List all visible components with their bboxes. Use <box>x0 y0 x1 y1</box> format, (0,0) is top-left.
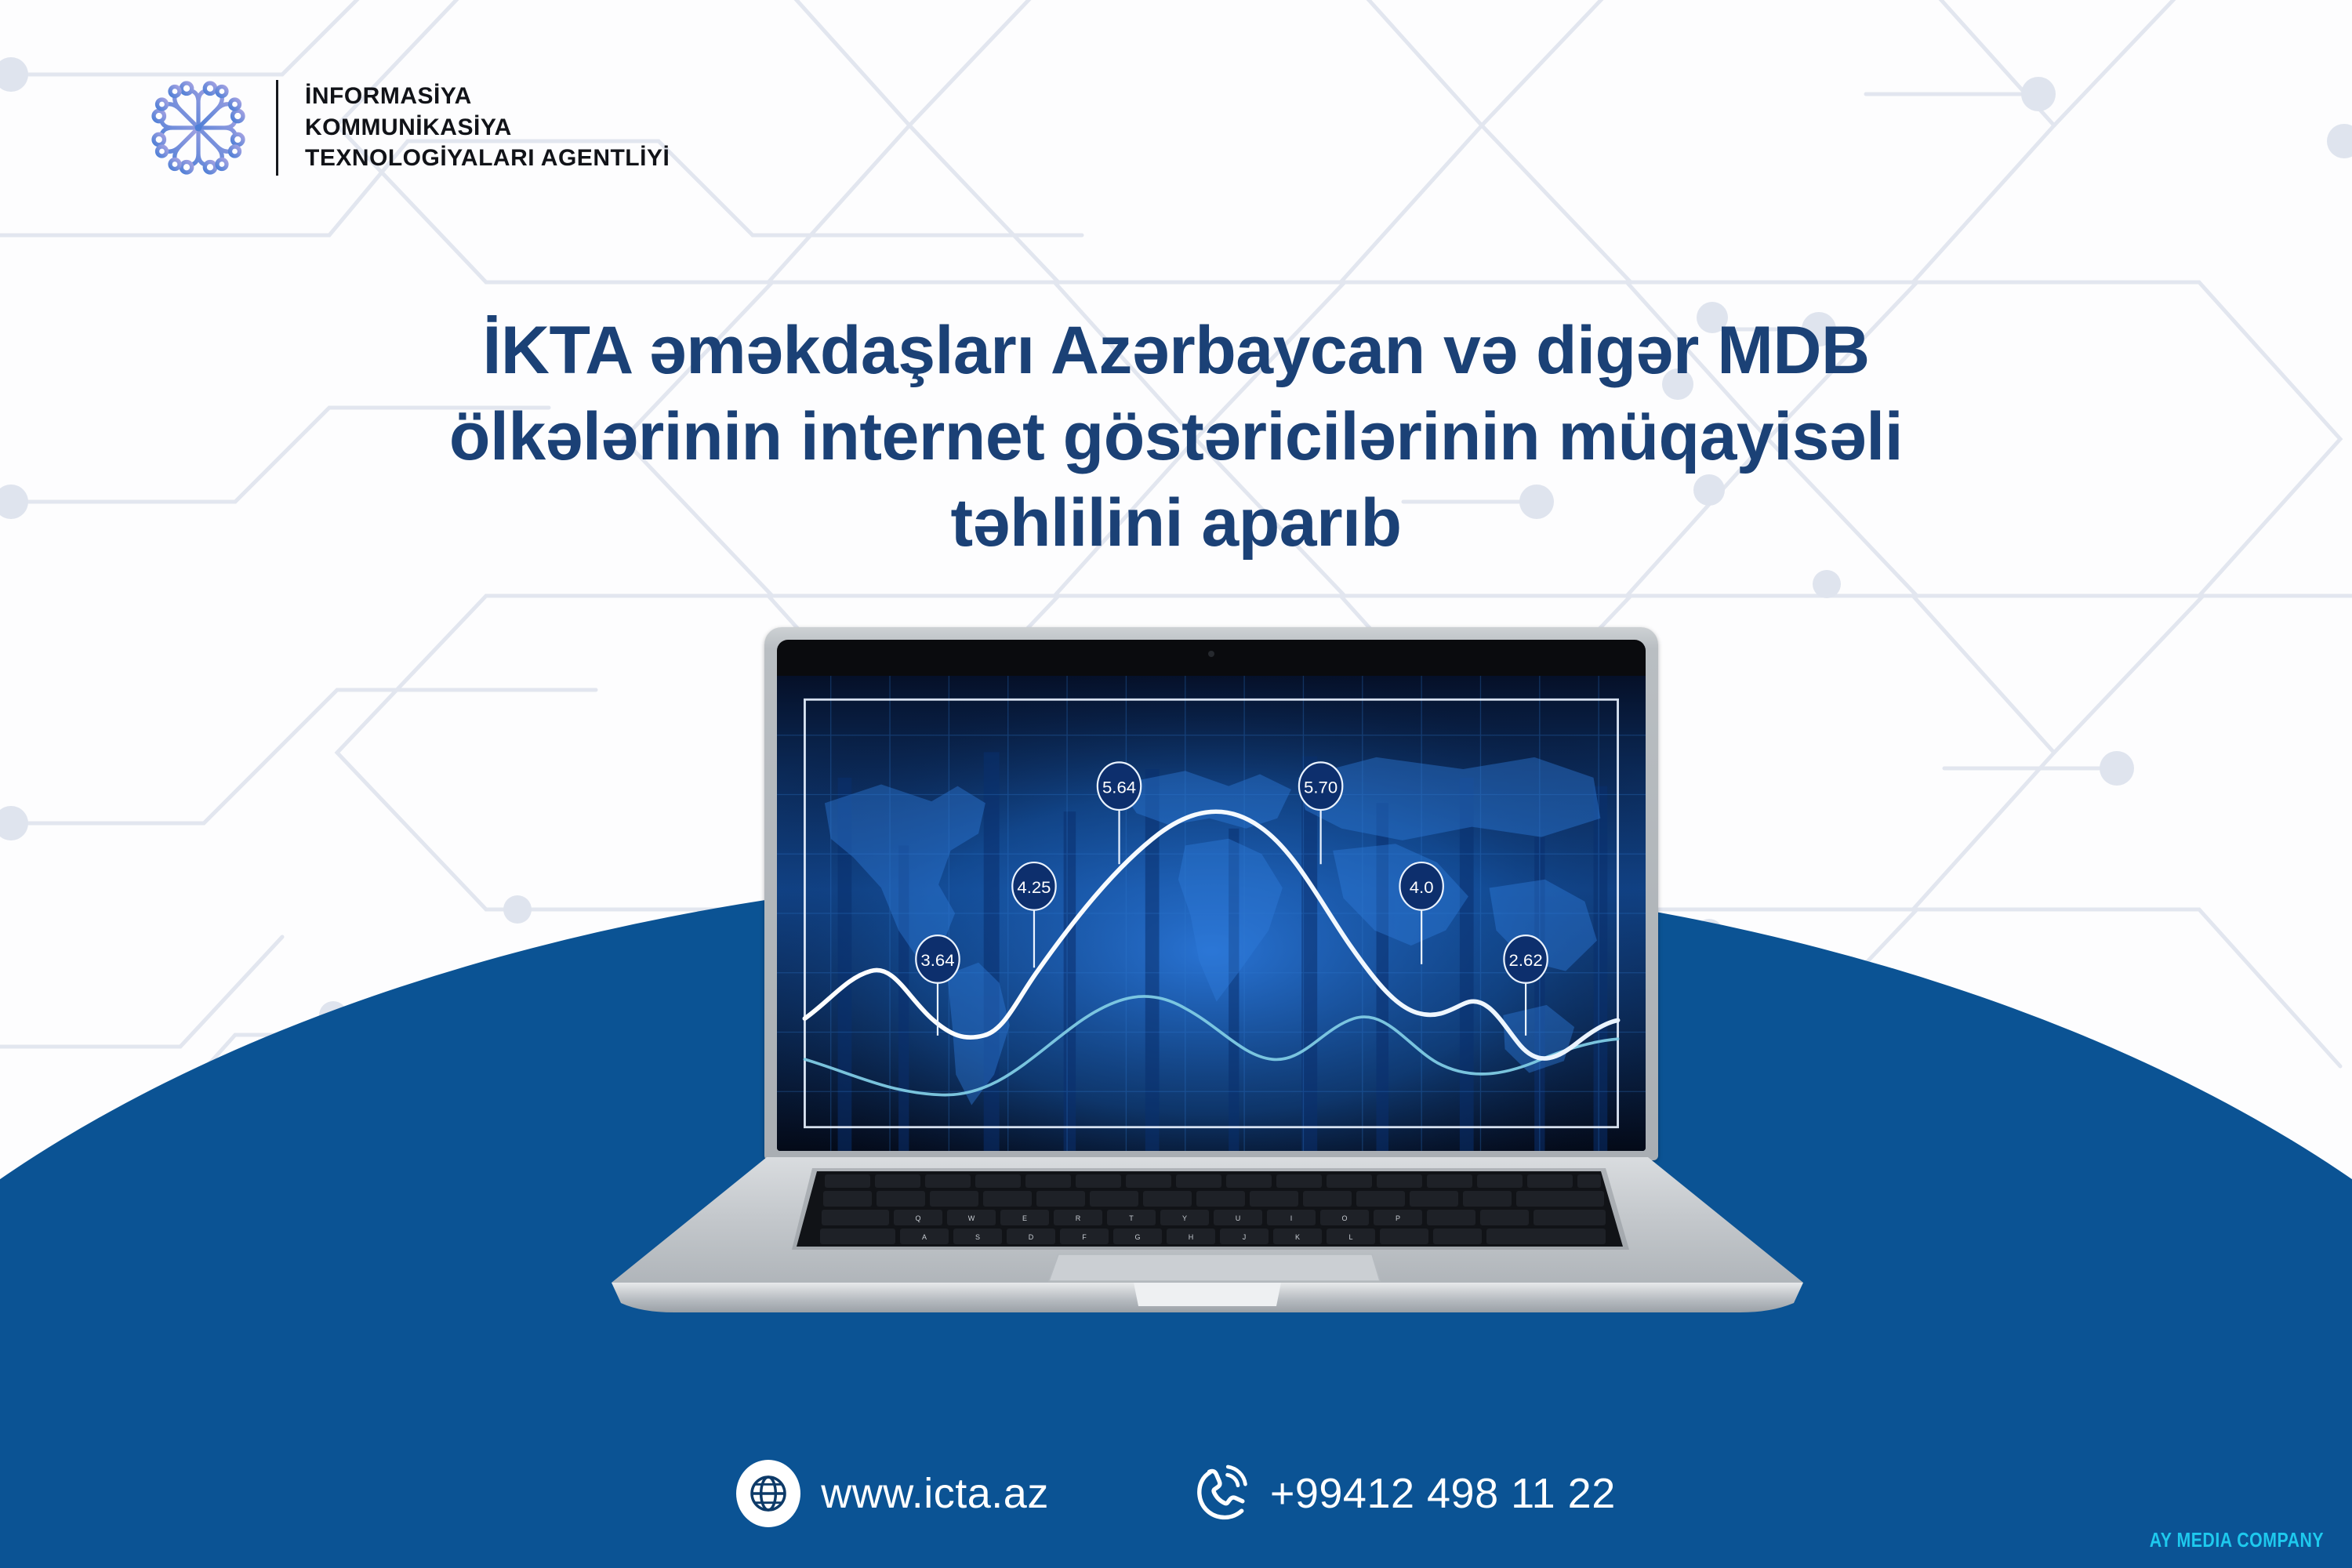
logo-divider <box>276 80 278 176</box>
svg-text:U: U <box>1236 1214 1241 1222</box>
svg-text:W: W <box>968 1214 975 1222</box>
svg-text:K: K <box>1295 1233 1300 1241</box>
phone-label: +99412 498 11 22 <box>1270 1469 1616 1518</box>
watermark: AY MEDIA COMPANY <box>2150 1528 2324 1552</box>
svg-text:I: I <box>1290 1214 1293 1222</box>
chart-annotation-label: 2.62 <box>1509 950 1543 970</box>
webcam-icon <box>1208 651 1214 657</box>
contact-phone[interactable]: +99412 498 11 22 <box>1190 1462 1616 1525</box>
svg-text:P: P <box>1396 1214 1400 1222</box>
svg-text:A: A <box>922 1233 927 1241</box>
svg-text:Y: Y <box>1182 1214 1187 1222</box>
brand-logo-block: İNFORMASİYA KOMMUNİKASİYA TEXNOLOGİYALAR… <box>140 69 670 187</box>
website-label: www.icta.az <box>821 1469 1049 1518</box>
screen-chart: 3.64 4.25 5.64 5.70 4.0 2.62 <box>777 676 1646 1151</box>
headline: İKTA əməkdaşları Azərbaycan və digər MDB… <box>321 307 2031 566</box>
brand-name-line-2: KOMMUNİKASİYA <box>305 115 670 140</box>
brand-name: İNFORMASİYA KOMMUNİKASİYA TEXNOLOGİYALAR… <box>305 84 670 171</box>
chart-annotation-label: 4.0 <box>1410 877 1434 897</box>
svg-text:E: E <box>1022 1214 1027 1222</box>
contact-website[interactable]: www.icta.az <box>736 1460 1049 1527</box>
svg-text:F: F <box>1082 1233 1087 1241</box>
svg-text:G: G <box>1134 1233 1140 1241</box>
chart-annotation-label: 4.25 <box>1017 877 1051 897</box>
footer-contacts: www.icta.az +99412 498 11 22 <box>0 1460 2352 1527</box>
chart-annotation-label: 3.64 <box>920 950 954 970</box>
svg-text:T: T <box>1129 1214 1134 1222</box>
laptop-device: 3.64 4.25 5.64 5.70 4.0 2.62 <box>596 627 1819 1443</box>
headline-line-2: ölkələrinin internet göstəricilərinin mü… <box>321 394 2031 480</box>
chart-annotation-label: 5.64 <box>1102 778 1136 797</box>
globe-icon <box>736 1460 800 1527</box>
svg-text:H: H <box>1189 1233 1194 1241</box>
laptop-bezel: 3.64 4.25 5.64 5.70 4.0 2.62 <box>777 640 1646 1151</box>
laptop-base: QWE RTY UIO P ASD FGH JKL <box>596 1157 1819 1314</box>
phone-icon <box>1190 1462 1250 1525</box>
poster-canvas: İNFORMASİYA KOMMUNİKASİYA TEXNOLOGİYALAR… <box>0 0 2352 1568</box>
headline-line-3: təhlilini aparıb <box>321 480 2031 566</box>
headline-line-1: İKTA əməkdaşları Azərbaycan və digər MDB <box>321 307 2031 394</box>
brand-name-line-1: İNFORMASİYA <box>305 84 670 109</box>
svg-text:Q: Q <box>915 1214 920 1222</box>
laptop-screen: 3.64 4.25 5.64 5.70 4.0 2.62 <box>777 676 1646 1151</box>
svg-text:D: D <box>1029 1233 1034 1241</box>
svg-text:O: O <box>1341 1214 1347 1222</box>
svg-text:R: R <box>1076 1214 1081 1222</box>
network-node-snowflake-icon <box>140 69 257 187</box>
chart-annotation-label: 5.70 <box>1304 778 1338 797</box>
svg-text:L: L <box>1348 1233 1352 1241</box>
laptop-lid: 3.64 4.25 5.64 5.70 4.0 2.62 <box>764 627 1658 1160</box>
brand-name-line-3: TEXNOLOGİYALARI AGENTLİYİ <box>305 146 670 171</box>
svg-text:J: J <box>1243 1233 1247 1241</box>
svg-text:S: S <box>975 1233 980 1241</box>
